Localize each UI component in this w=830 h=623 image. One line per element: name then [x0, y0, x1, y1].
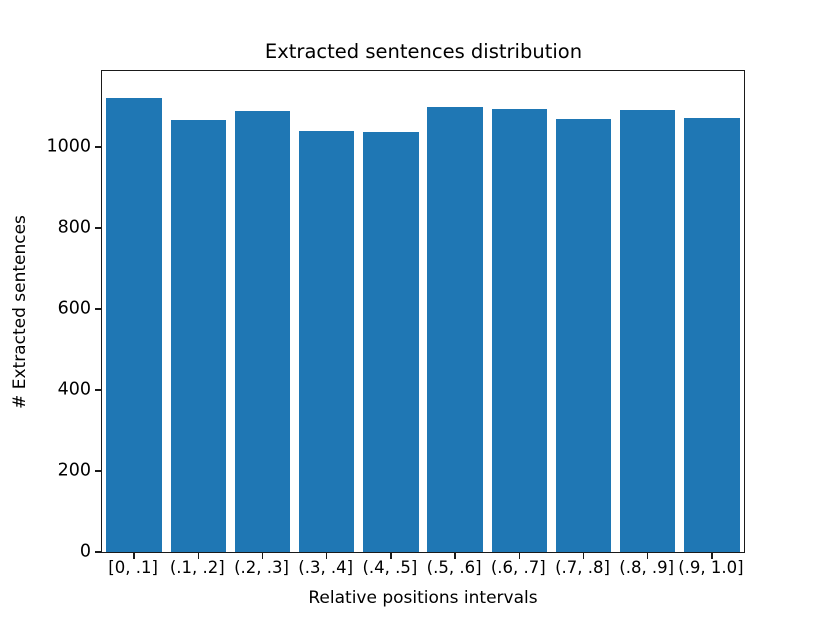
y-axis-tick [95, 470, 102, 471]
x-axis-tick-label: (.8, .9] [619, 560, 674, 577]
x-axis-tick-label: (.3, .4] [298, 560, 353, 577]
y-axis-tick [95, 308, 102, 309]
x-axis-tick-label: (.6, .7] [491, 560, 546, 577]
y-axis-tick [95, 389, 102, 390]
x-axis-tick-label: (.5, .6] [427, 560, 482, 577]
bars-layer [102, 71, 744, 552]
bar [299, 131, 355, 552]
chart-figure: Extracted sentences distribution # Extra… [0, 0, 830, 623]
y-axis-label: # Extracted sentences [7, 70, 33, 553]
x-axis-tick-label: (.4, .5] [362, 560, 417, 577]
x-axis-tick-label: (.1, .2] [170, 560, 225, 577]
x-axis-label: Relative positions intervals [101, 588, 745, 608]
x-axis-tick-label: (.2, .3] [234, 560, 289, 577]
y-axis-tick-label: 200 [58, 462, 91, 480]
x-axis-tick-label: (.9, 1.0] [678, 560, 743, 577]
plot-area: 02004006008001000 [101, 70, 745, 553]
y-axis-tick [95, 227, 102, 228]
bar [684, 118, 740, 552]
x-axis-tick-label: (.7, .8] [555, 560, 610, 577]
y-axis-tick-label: 400 [58, 381, 91, 399]
x-axis-tick-label: [0, .1] [108, 560, 158, 577]
y-axis-tick-label: 0 [80, 543, 91, 561]
y-axis-tick [95, 551, 102, 552]
bar [427, 107, 483, 552]
bar [235, 111, 291, 552]
bar [363, 132, 419, 552]
chart-title: Extracted sentences distribution [101, 40, 746, 63]
y-axis-tick-label: 800 [58, 219, 91, 237]
bar [106, 98, 162, 552]
bar [620, 110, 676, 552]
bar [556, 119, 612, 552]
y-axis-tick-label: 600 [58, 300, 91, 318]
bar [171, 120, 227, 552]
y-axis-label-text: # Extracted sentences [10, 215, 30, 409]
y-axis-tick [95, 146, 102, 147]
y-axis-tick-label: 1000 [46, 138, 91, 156]
bar [492, 109, 548, 552]
